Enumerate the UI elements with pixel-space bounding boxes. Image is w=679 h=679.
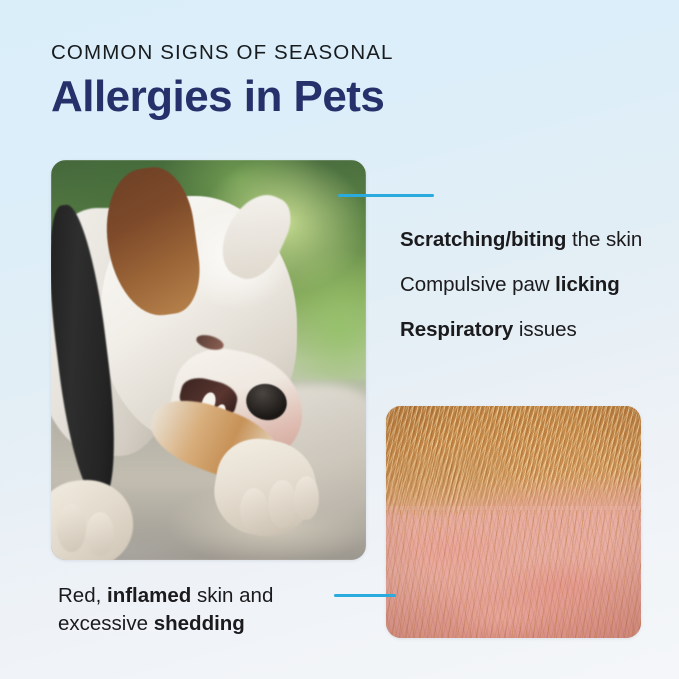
connector-line-top	[338, 194, 434, 197]
photo-skin-vignette	[386, 406, 641, 638]
symptom-item-respiratory: Respiratory issues	[400, 316, 650, 343]
page-title: Allergies in Pets	[51, 73, 611, 121]
symptom-bold-licking: licking	[555, 273, 620, 296]
symptom-list: Scratching/biting the skin Compulsive pa…	[400, 226, 650, 343]
infographic-canvas: COMMON SIGNS OF SEASONAL Allergies in Pe…	[0, 0, 679, 679]
caption-bold-shedding: shedding	[154, 612, 245, 635]
photo-dog-toe	[294, 476, 319, 520]
photo-dog-toe	[268, 480, 296, 528]
symptom-item-licking: Compulsive paw licking	[400, 271, 650, 298]
header-block: COMMON SIGNS OF SEASONAL Allergies in Pe…	[51, 40, 611, 120]
symptom-bold-respiratory: Respiratory	[400, 318, 513, 341]
caption-part-1: Red,	[58, 584, 107, 607]
symptom-rest-respiratory: issues	[513, 318, 576, 341]
connector-line-bottom	[334, 594, 396, 597]
eyebrow-text: COMMON SIGNS OF SEASONAL	[51, 40, 611, 66]
photo-dog-toe	[57, 504, 85, 552]
symptom-rest-scratching: the skin	[566, 228, 642, 251]
photo-dog-biting-paw	[51, 160, 366, 560]
symptom-lead-licking: Compulsive paw	[400, 273, 555, 296]
symptom-item-scratching: Scratching/biting the skin	[400, 226, 650, 253]
photo-inflamed-skin	[386, 406, 641, 638]
caption-bold-inflamed: inflamed	[107, 584, 191, 607]
photo-dog-toe	[86, 512, 114, 556]
caption-inflamed-skin: Red, inflamed skin and excessive sheddin…	[58, 582, 358, 638]
symptom-bold-scratching: Scratching/biting	[400, 228, 566, 251]
